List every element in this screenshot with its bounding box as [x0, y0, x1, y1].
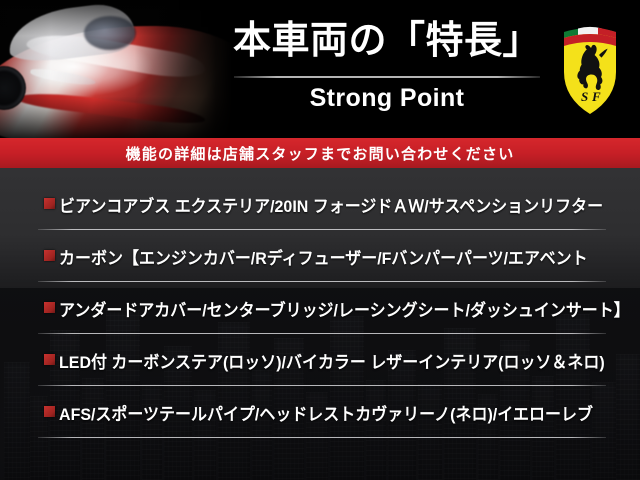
- list-item: AFS/スポーツテールパイプ/ヘッドレストカヴァリーノ(ネロ)/イエローレブ: [0, 386, 640, 438]
- feature-poster: 本車両の「特長」 Strong Point S F: [0, 0, 640, 480]
- title-divider: [234, 76, 540, 78]
- list-item: アンダードアカバー/センターブリッジ/レーシングシート/ダッシュインサート】: [0, 282, 640, 334]
- feature-text: LED付 カーボンステア(ロッソ)/バイカラー レザーインテリア(ロッソ＆ネロ): [44, 348, 605, 373]
- svg-text:F: F: [591, 89, 601, 104]
- photo-vignette: [0, 0, 232, 138]
- feature-text: カーボン【エンジンカバー/Rディフューザー/Fバンパーパーツ/エアベント: [44, 244, 588, 269]
- feature-text: ビアンコアブス エクステリア/20IN フォージドＡＷ/サスペンションリフター: [44, 192, 603, 217]
- ferrari-car-photo: [0, 0, 232, 138]
- page-subtitle: Strong Point: [232, 84, 542, 113]
- feature-text: アンダードアカバー/センターブリッジ/レーシングシート/ダッシュインサート】: [44, 296, 630, 321]
- ferrari-shield-icon: S F: [558, 22, 622, 118]
- title-block: 本車両の「特長」 Strong Point: [232, 0, 542, 138]
- contact-banner: 機能の詳細は店舗スタッフまでお問い合わせください: [0, 138, 640, 168]
- row-divider: [38, 437, 606, 438]
- list-item: LED付 カーボンステア(ロッソ)/バイカラー レザーインテリア(ロッソ＆ネロ): [0, 334, 640, 386]
- feature-text: AFS/スポーツテールパイプ/ヘッドレストカヴァリーノ(ネロ)/イエローレブ: [44, 400, 593, 425]
- list-item: カーボン【エンジンカバー/Rディフューザー/Fバンパーパーツ/エアベント: [0, 230, 640, 282]
- contact-banner-text: 機能の詳細は店舗スタッフまでお問い合わせください: [126, 143, 515, 164]
- page-title: 本車両の「特長」: [232, 22, 542, 60]
- list-item: ビアンコアブス エクステリア/20IN フォージドＡＷ/サスペンションリフター: [0, 178, 640, 230]
- svg-text:S: S: [581, 89, 588, 104]
- poster-header: 本車両の「特長」 Strong Point S F: [0, 0, 640, 138]
- feature-list: ビアンコアブス エクステリア/20IN フォージドＡＷ/サスペンションリフター …: [0, 178, 640, 468]
